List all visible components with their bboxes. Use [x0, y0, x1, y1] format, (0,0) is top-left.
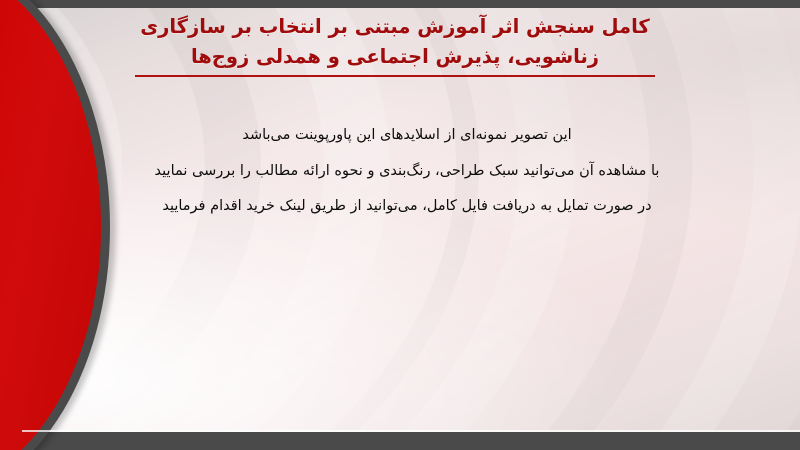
presentation-slide: کامل سنجش اثر آموزش مبتنی بر انتخاب بر س…	[0, 0, 800, 450]
body-line-1: این تصویر نمونه‌ای از اسلایدهای این پاور…	[110, 118, 704, 154]
title-line-2: زناشویی، پذیرش اجتماعی و همدلی زوج‌ها	[120, 42, 670, 72]
slide-title: کامل سنجش اثر آموزش مبتنی بر انتخاب بر س…	[120, 12, 670, 77]
title-divider-rule	[135, 75, 655, 77]
body-line-3: در صورت تمایل به دریافت فایل کامل، می‌تو…	[110, 189, 704, 225]
title-line-1: کامل سنجش اثر آموزش مبتنی بر انتخاب بر س…	[120, 12, 670, 42]
slide-body: این تصویر نمونه‌ای از اسلایدهای این پاور…	[110, 118, 704, 225]
body-line-2: با مشاهده آن می‌توانید سبک طراحی، رنگ‌بن…	[110, 154, 704, 190]
slide-content: کامل سنجش اثر آموزش مبتنی بر انتخاب بر س…	[0, 0, 800, 450]
